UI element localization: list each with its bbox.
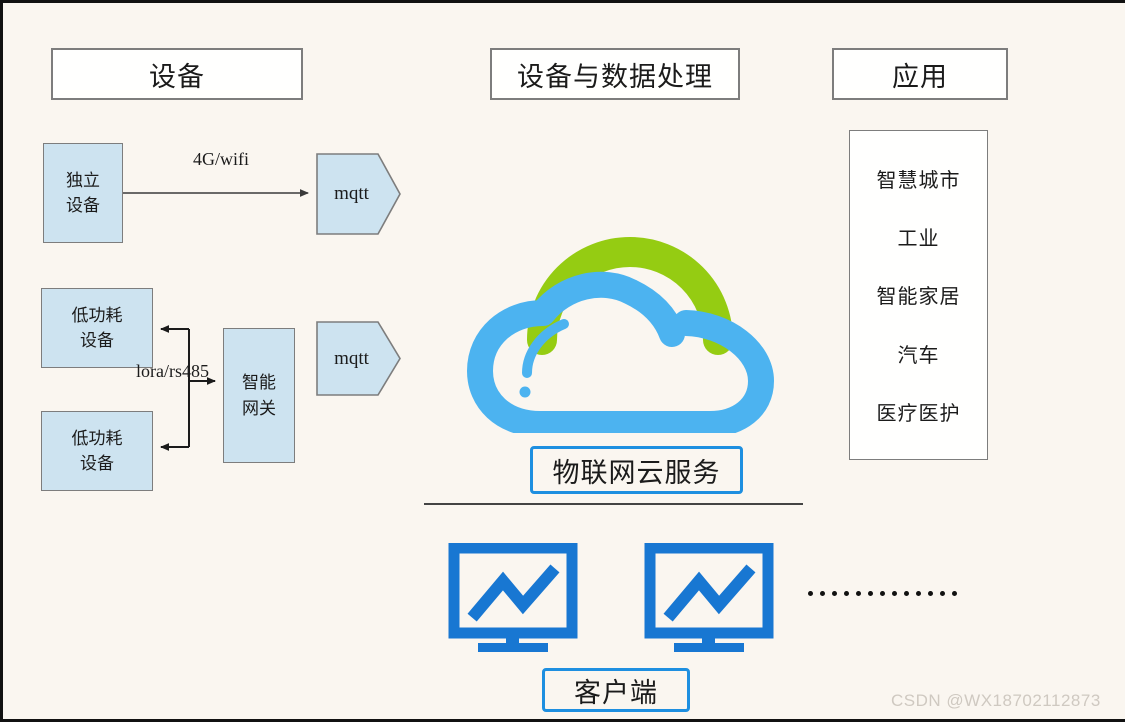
section-header-devices: 设备 [51, 48, 303, 100]
device-gateway-line2: 网关 [242, 396, 276, 422]
application-item[interactable]: 汽车 [898, 339, 940, 368]
application-item[interactable]: 智能家居 [877, 280, 961, 309]
device-box-lowpower-top[interactable]: 低功耗 设备 [41, 288, 153, 368]
device-box-lowpower-bottom[interactable]: 低功耗 设备 [41, 411, 153, 491]
cloud-service-label[interactable]: 物联网云服务 [530, 446, 743, 494]
mqtt-shape-bottom-label: mqtt [334, 348, 369, 370]
cloud-service-label-text: 物联网云服务 [553, 451, 721, 490]
application-list-panel: 智慧城市 工业 智能家居 汽车 医疗医护 [849, 130, 988, 460]
device-standalone-line2: 设备 [66, 193, 100, 219]
device-box-standalone[interactable]: 独立 设备 [43, 143, 123, 243]
section-header-processing-label: 设备与数据处理 [517, 55, 713, 94]
diagram-canvas: 设备 设备与数据处理 应用 独立 设备 低功耗 设备 低功耗 设备 智能 网关 … [0, 0, 1125, 722]
application-item[interactable]: 工业 [898, 222, 940, 251]
cloud-icon [458, 188, 798, 433]
mqtt-shape-bottom[interactable]: mqtt [316, 321, 401, 396]
edge-label-wired: lora/rs485 [136, 361, 209, 382]
device-lowpower-top-line2: 设备 [80, 328, 114, 354]
device-box-gateway[interactable]: 智能 网关 [223, 328, 295, 463]
section-divider [424, 503, 803, 505]
application-item[interactable]: 智慧城市 [877, 164, 961, 193]
client-label[interactable]: 客户端 [542, 668, 690, 712]
monitor-icon-2[interactable] [644, 543, 774, 653]
watermark: CSDN @WX18702112873 [891, 691, 1101, 711]
application-item[interactable]: 医疗医护 [877, 397, 961, 426]
device-lowpower-bottom-line1: 低功耗 [72, 426, 123, 452]
section-header-applications-label: 应用 [892, 55, 948, 94]
mqtt-shape-top-label: mqtt [334, 183, 369, 205]
device-lowpower-bottom-line2: 设备 [80, 451, 114, 477]
section-header-devices-label: 设备 [149, 55, 205, 94]
section-header-processing: 设备与数据处理 [490, 48, 740, 100]
client-label-text: 客户端 [574, 671, 658, 710]
more-clients-ellipsis [808, 591, 957, 596]
device-gateway-line1: 智能 [242, 370, 276, 396]
edge-label-wireless: 4G/wifi [193, 149, 249, 170]
device-standalone-line1: 独立 [66, 168, 100, 194]
mqtt-shape-top[interactable]: mqtt [316, 153, 401, 235]
device-lowpower-top-line1: 低功耗 [72, 303, 123, 329]
section-header-applications: 应用 [832, 48, 1008, 100]
monitor-icon-1[interactable] [448, 543, 578, 653]
